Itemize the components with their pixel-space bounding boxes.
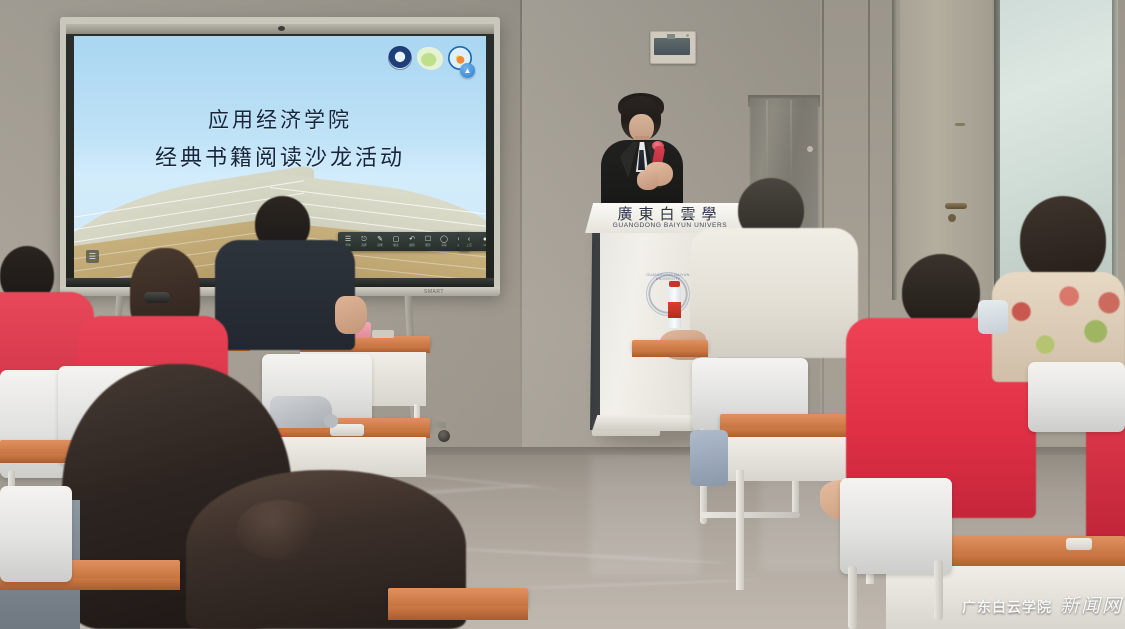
shape-icon[interactable]: ☐图形 [421, 234, 435, 249]
slide-title-line2: 经典书籍阅读沙龙活动 [74, 140, 486, 172]
board-caster-wheel [438, 430, 450, 442]
audience-floral-top-woman-head [1020, 196, 1106, 284]
desk-item-bag [270, 396, 332, 428]
desk-foreground-center-edge [388, 606, 528, 620]
podium-seal-text: GUANGDONG BAIYUN UNIVERSITY [646, 273, 690, 281]
desk-item-right-paper [1066, 538, 1092, 550]
clear-icon[interactable]: ◯清除 [437, 234, 451, 249]
slide-logo-group [388, 46, 472, 70]
audience-hair-tie [144, 292, 170, 303]
door-frame-edge [892, 0, 897, 300]
window-frame-right [1112, 0, 1118, 300]
select-icon[interactable]: ⎋选择 [357, 234, 371, 249]
door-latch-icon [955, 123, 965, 126]
desk-right-back-small-edge [632, 350, 708, 357]
door-lock-icon[interactable] [948, 214, 956, 222]
audience-dark-shirt-front-row-body [215, 240, 355, 350]
desk-right-mid-leg-1 [736, 470, 744, 590]
page-indicator-icon: ●1/8 [478, 234, 486, 249]
speaker-hand-left [637, 170, 659, 190]
chair-foreground-left [0, 486, 72, 582]
wall-panel-led-icon [686, 34, 689, 37]
board-toolbar-group-2[interactable]: ‹上页 ●1/8 ›下页 [459, 232, 486, 251]
cloud-sync-icon[interactable]: ▲ [460, 63, 475, 78]
desk-item-phone [372, 330, 394, 338]
drape-knob-icon [807, 146, 813, 152]
watermark-site: 新闻网 [1060, 591, 1123, 618]
university-seal-logo [388, 46, 412, 70]
watermark: 广东白云学院 新闻网 [962, 591, 1123, 618]
pen-icon[interactable]: ✎画笔 [373, 234, 387, 249]
podium-name-chinese: 廣東白雲學 [600, 203, 740, 224]
curly-hair-highlight [236, 500, 326, 560]
desk-item-blue-bag [690, 430, 728, 486]
green-map-logo [417, 47, 443, 70]
audience-dark-shirt-arm [335, 296, 367, 334]
floral-woman-cup [978, 300, 1008, 334]
floor-reflection-podium [590, 455, 700, 575]
eraser-icon[interactable]: ▢橡皮 [389, 234, 403, 249]
desk-item-watch [324, 414, 338, 428]
chair-leg-right-fg-2 [934, 560, 943, 620]
chair-far-right [1028, 362, 1125, 432]
audience-white-polo-man-body [690, 228, 858, 358]
wall-seam-1 [520, 0, 522, 470]
door-handle-icon[interactable] [945, 203, 967, 209]
watermark-organization: 广东白云学院 [962, 597, 1052, 617]
slide-title-line1: 应用经济学院 [74, 104, 486, 134]
chair-leg-right-fg-1 [848, 566, 857, 629]
prev-page-icon[interactable]: ‹上页 [462, 234, 476, 249]
smart-board-camera-icon [278, 26, 285, 31]
board-toolbar-group-1[interactable]: ☰菜单 ⎋选择 ✎画笔 ▢橡皮 ↶撤销 ☐图形 ◯清除 ↺返回 [338, 232, 470, 251]
classroom-photo-scene: 应用经济学院 经典书籍阅读沙龙活动 ☰菜单 ⎋选择 ✎画笔 ▢橡皮 ↶撤销 ☐图… [0, 0, 1125, 629]
undo-icon[interactable]: ↶撤销 [405, 234, 419, 249]
smart-board-brand-label: SMART [424, 289, 444, 295]
desk-foreground-center [388, 588, 528, 608]
chair-crossbar-right [700, 512, 800, 518]
water-bottle-label [668, 302, 681, 318]
wall-panel-display [654, 38, 690, 55]
water-bottle-cap [669, 281, 680, 287]
wall-panel-button[interactable] [667, 34, 675, 39]
file-icon[interactable]: ☰ [86, 250, 99, 263]
